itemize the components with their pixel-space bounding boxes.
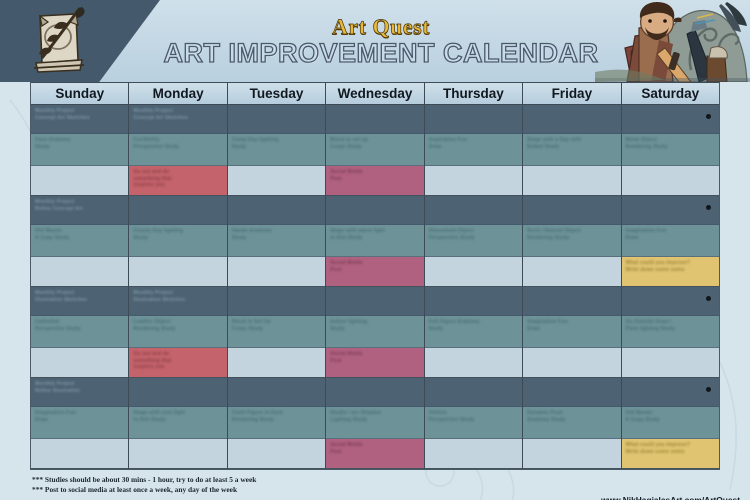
cell-text: Social MediaPost: [330, 260, 419, 273]
calendar-day-column: Household ObjectPerspective Study: [425, 196, 523, 287]
daily-study-cell[interactable]: Block in set upCrops Study: [326, 134, 423, 165]
monthly-goal-cell[interactable]: Monthly ProjectIllustration Sketches: [129, 287, 226, 316]
footer-note-social: *** Post to social media at least once a…: [32, 485, 256, 495]
extra-task-cell[interactable]: [523, 256, 620, 287]
extra-task-cell[interactable]: [523, 438, 620, 469]
cell-text: Full Figure AnatomyStudy: [429, 319, 518, 332]
extra-task-cell[interactable]: [425, 347, 522, 378]
daily-study-cell[interactable]: Studio / arc ShadowLighting Study: [326, 407, 423, 438]
extra-task-cell[interactable]: Go out and dosomething thatinspires you: [129, 165, 226, 196]
calendar-day-column: Inspiration FunDraw: [425, 105, 523, 196]
monthly-goal-cell[interactable]: [326, 287, 423, 316]
cell-text: Go out and dosomething thatinspires you: [133, 351, 222, 371]
monthly-goal-cell[interactable]: Monthly ProjectRefine Illustration: [31, 378, 128, 407]
calendar-grid: Sunday Monday Tuesday Wednesday Thursday…: [30, 82, 720, 470]
monthly-goal-cell[interactable]: [425, 196, 522, 225]
calendar-week-row: Monthly ProjectRefine Concept ArtOld Mas…: [31, 196, 719, 287]
cell-text: Old MasterA Copy Study: [626, 410, 715, 423]
extra-task-cell[interactable]: What could you improve?Write down some n…: [622, 438, 719, 469]
daily-study-cell[interactable]: Stage with a Day withEnded Study: [523, 134, 620, 165]
daily-study-cell[interactable]: CathedralPerspective Study: [31, 316, 128, 347]
daily-study-cell[interactable]: Cloudy Day lightingStudy: [129, 225, 226, 256]
day-header-row: Sunday Monday Tuesday Wednesday Thursday…: [31, 82, 719, 105]
calendar-day-column: Monthly ProjectIllustration SketchesCath…: [31, 287, 129, 378]
extra-task-cell[interactable]: [228, 438, 325, 469]
monthly-goal-cell[interactable]: [228, 105, 325, 134]
cell-text: Stage with cool lightin thin Study: [133, 410, 222, 423]
footer-notes: *** Studies should be about 30 mins - 1 …: [32, 475, 256, 495]
cell-text: Social MediaPost: [330, 351, 419, 364]
week-marker-dot-icon: [706, 296, 711, 301]
daily-study-cell[interactable]: Stage with warm lightin thin Study: [326, 225, 423, 256]
monthly-goal-cell[interactable]: [228, 196, 325, 225]
daily-study-cell[interactable]: Block in Set UpCrops Study: [228, 316, 325, 347]
monthly-goal-cell[interactable]: [129, 196, 226, 225]
daily-study-cell[interactable]: Household ObjectPerspective Study: [425, 225, 522, 256]
cell-text: Social MediaPost: [330, 442, 419, 455]
cell-text: Go out and dosomething thatinspires you: [133, 169, 222, 189]
page-title: ART IMPROVEMENT CALENDAR: [164, 40, 599, 67]
cell-text: Face AnatomyStudy: [35, 137, 124, 150]
cell-text: Monthly ProjectConcept Art Sketches: [35, 108, 124, 121]
daily-study-cell[interactable]: Leather ObjectRendering Study: [129, 316, 226, 347]
day-header-wednesday: Wednesday: [326, 82, 424, 105]
extra-task-cell[interactable]: What could you improve?Write down some n…: [622, 256, 719, 287]
cell-text: VehiclePerspective Study: [429, 410, 518, 423]
website-link[interactable]: www.NikHagialasArt.com/ArtQuest: [601, 495, 740, 500]
monthly-goal-cell[interactable]: [326, 196, 423, 225]
daily-study-cell[interactable]: Imagination FunDraw: [31, 407, 128, 438]
cell-text: Stage with warm lightin thin Study: [330, 228, 419, 241]
calendar-day-column: Monthly ProjectRefine IllustrationImagin…: [31, 378, 129, 469]
cell-text: Hands AnatomyStudy: [232, 228, 321, 241]
daily-study-cell[interactable]: Inspiration FunDraw: [425, 134, 522, 165]
calendar-day-column: Monthly ProjectIllustration SketchesLeat…: [129, 287, 227, 378]
cell-text: Block in set upCrops Study: [330, 137, 419, 150]
calendar-weeks: Monthly ProjectConcept Art SketchesFace …: [31, 105, 719, 469]
daily-study-cell[interactable]: Cloth Figure in DarkRendering Study: [228, 407, 325, 438]
daily-study-cell[interactable]: Old MasterA Copy Study: [622, 407, 719, 438]
cell-text: Monthly ProjectConcept Art Sketches: [133, 108, 222, 121]
daily-study-cell[interactable]: Imagination FunDraw: [622, 225, 719, 256]
day-header-sunday: Sunday: [31, 82, 129, 105]
cell-text: Old MasterA Copy Study: [35, 228, 124, 241]
extra-task-cell[interactable]: Social MediaPost: [326, 347, 423, 378]
calendar-day-column: Monthly ProjectConcept Art SketchesFace …: [31, 105, 129, 196]
daily-study-cell[interactable]: Rock / Natural ObjectRendering Study: [523, 225, 620, 256]
monthly-goal-cell[interactable]: [326, 105, 423, 134]
extra-task-cell[interactable]: [622, 347, 719, 378]
monthly-goal-cell[interactable]: Monthly ProjectRefine Concept Art: [31, 196, 128, 225]
cell-text: Inspiration FunDraw: [429, 137, 518, 150]
monthly-goal-cell[interactable]: [523, 287, 620, 316]
daily-study-cell[interactable]: Face AnatomyStudy: [31, 134, 128, 165]
week-marker-dot-icon: [706, 114, 711, 119]
cell-text: Monthly ProjectRefine Concept Art: [35, 199, 124, 212]
cell-text: Metal ObjectRendering Study: [626, 137, 715, 150]
daily-study-cell[interactable]: Hands AnatomyStudy: [228, 225, 325, 256]
daily-study-cell[interactable]: Imagination FunDraw: [523, 316, 620, 347]
cell-text: Monthly ProjectRefine Illustration: [35, 381, 124, 394]
calendar-day-column: Stage with a Day withEnded Study: [523, 105, 621, 196]
day-header-friday: Friday: [523, 82, 621, 105]
calendar-week-row: Monthly ProjectConcept Art SketchesFace …: [31, 105, 719, 196]
monthly-goal-cell[interactable]: [326, 378, 423, 407]
cell-text: Fur/AbilityPerspective Study: [133, 137, 222, 150]
extra-task-cell[interactable]: Go out and dosomething thatinspires you: [129, 347, 226, 378]
monthly-goal-cell[interactable]: Monthly ProjectConcept Art Sketches: [129, 105, 226, 134]
cell-text: Indoor lightingStudy: [330, 319, 419, 332]
extra-task-cell[interactable]: [228, 165, 325, 196]
monthly-goal-cell[interactable]: Monthly ProjectIllustration Sketches: [31, 287, 128, 316]
daily-study-cell[interactable]: Comp Day lightingStudy: [228, 134, 325, 165]
cell-text: Social MediaPost: [330, 169, 419, 182]
cell-text: CathedralPerspective Study: [35, 319, 124, 332]
cell-text: Imagination FunDraw: [35, 410, 124, 423]
extra-task-cell[interactable]: Social MediaPost: [326, 438, 423, 469]
page-header: Art Quest ART IMPROVEMENT CALENDAR: [0, 0, 750, 82]
daily-study-cell[interactable]: Dynamic PoseAnatomy Study: [523, 407, 620, 438]
monthly-goal-cell[interactable]: [523, 378, 620, 407]
monthly-goal-cell[interactable]: [622, 378, 719, 407]
monthly-goal-cell[interactable]: [425, 287, 522, 316]
monthly-goal-cell[interactable]: [622, 287, 719, 316]
cell-text: What could you improve?Write down some n…: [626, 442, 715, 455]
monthly-goal-cell[interactable]: [622, 196, 719, 225]
cell-text: Stage with a Day withEnded Study: [527, 137, 616, 150]
week-marker-dot-icon: [706, 205, 711, 210]
cell-text: Household ObjectPerspective Study: [429, 228, 518, 241]
daily-study-cell[interactable]: Go Outside Draw /Plein lighting Study: [622, 316, 719, 347]
calendar-day-column: Studio / arc ShadowLighting StudySocial …: [326, 378, 424, 469]
calendar-day-column: Block in set upCrops StudySocial MediaPo…: [326, 105, 424, 196]
extra-task-cell[interactable]: [425, 165, 522, 196]
monthly-goal-cell[interactable]: [228, 378, 325, 407]
monthly-goal-cell[interactable]: Monthly ProjectConcept Art Sketches: [31, 105, 128, 134]
calendar-day-column: Imagination FunDrawWhat could you improv…: [622, 196, 719, 287]
calendar-day-column: Hands AnatomyStudy: [228, 196, 326, 287]
calendar-week-row: Monthly ProjectIllustration SketchesCath…: [31, 287, 719, 378]
cell-text: Cloudy Day lightingStudy: [133, 228, 222, 241]
extra-task-cell[interactable]: [31, 347, 128, 378]
extra-task-cell[interactable]: [31, 256, 128, 287]
calendar-day-column: VehiclePerspective Study: [425, 378, 523, 469]
day-header-tuesday: Tuesday: [228, 82, 326, 105]
extra-task-cell[interactable]: [425, 256, 522, 287]
calendar-day-column: Cloth Figure in DarkRendering Study: [228, 378, 326, 469]
daily-study-cell[interactable]: VehiclePerspective Study: [425, 407, 522, 438]
cell-text: Dynamic PoseAnatomy Study: [527, 410, 616, 423]
monthly-goal-cell[interactable]: [523, 105, 620, 134]
page-footer: *** Studies should be about 30 mins - 1 …: [32, 475, 722, 495]
extra-task-cell[interactable]: [425, 438, 522, 469]
calendar-day-column: Dynamic PoseAnatomy Study: [523, 378, 621, 469]
title-block: Art Quest ART IMPROVEMENT CALENDAR: [160, 0, 602, 82]
monthly-goal-cell[interactable]: [129, 378, 226, 407]
cell-text: Imagination FunDraw: [626, 228, 715, 241]
calendar-day-column: Comp Day lightingStudy: [228, 105, 326, 196]
calendar-day-column: Monthly ProjectConcept Art SketchesFur/A…: [129, 105, 227, 196]
cell-text: Monthly ProjectIllustration Sketches: [35, 290, 124, 303]
calendar-day-column: Full Figure AnatomyStudy: [425, 287, 523, 378]
monthly-goal-cell[interactable]: [228, 287, 325, 316]
monthly-goal-cell[interactable]: [425, 378, 522, 407]
monthly-goal-cell[interactable]: [523, 196, 620, 225]
calendar-day-column: Old MasterA Copy StudyWhat could you imp…: [622, 378, 719, 469]
calendar-day-column: Go Outside Draw /Plein lighting Study: [622, 287, 719, 378]
calendar-day-column: Metal ObjectRendering Study: [622, 105, 719, 196]
calendar-day-column: Stage with cool lightin thin Study: [129, 378, 227, 469]
extra-task-cell[interactable]: [129, 256, 226, 287]
daily-study-cell[interactable]: Full Figure AnatomyStudy: [425, 316, 522, 347]
warrior-character-icon: [595, 0, 750, 82]
monthly-goal-cell[interactable]: [425, 105, 522, 134]
extra-task-cell[interactable]: [523, 347, 620, 378]
extra-task-cell[interactable]: Social MediaPost: [326, 256, 423, 287]
monthly-goal-cell[interactable]: [622, 105, 719, 134]
footer-note-studies: *** Studies should be about 30 mins - 1 …: [32, 475, 256, 485]
extra-task-cell[interactable]: [129, 438, 226, 469]
day-header-thursday: Thursday: [425, 82, 523, 105]
calendar-day-column: Rock / Natural ObjectRendering Study: [523, 196, 621, 287]
cell-text: Rock / Natural ObjectRendering Study: [527, 228, 616, 241]
brand-logo-text: Art Quest: [332, 16, 430, 38]
cell-text: Comp Day lightingStudy: [232, 137, 321, 150]
cell-text: Block in Set UpCrops Study: [232, 319, 321, 332]
daily-study-cell[interactable]: Old MasterA Copy Study: [31, 225, 128, 256]
extra-task-cell[interactable]: [622, 165, 719, 196]
cell-text: Imagination FunDraw: [527, 319, 616, 332]
week-marker-dot-icon: [706, 387, 711, 392]
extra-task-cell[interactable]: [31, 165, 128, 196]
daily-study-cell[interactable]: Indoor lightingStudy: [326, 316, 423, 347]
scroll-quill-icon: [28, 6, 90, 78]
calendar-day-column: Cloudy Day lightingStudy: [129, 196, 227, 287]
extra-task-cell[interactable]: [228, 256, 325, 287]
daily-study-cell[interactable]: Fur/AbilityPerspective Study: [129, 134, 226, 165]
day-header-monday: Monday: [129, 82, 227, 105]
calendar-day-column: Monthly ProjectRefine Concept ArtOld Mas…: [31, 196, 129, 287]
calendar-day-column: Indoor lightingStudySocial MediaPost: [326, 287, 424, 378]
cell-text: Monthly ProjectIllustration Sketches: [133, 290, 222, 303]
cell-text: Go Outside Draw /Plein lighting Study: [626, 319, 715, 332]
extra-task-cell[interactable]: [31, 438, 128, 469]
cell-text: Leather ObjectRendering Study: [133, 319, 222, 332]
daily-study-cell[interactable]: Metal ObjectRendering Study: [622, 134, 719, 165]
calendar-week-row: Monthly ProjectRefine IllustrationImagin…: [31, 378, 719, 469]
daily-study-cell[interactable]: Stage with cool lightin thin Study: [129, 407, 226, 438]
cell-text: Cloth Figure in DarkRendering Study: [232, 410, 321, 423]
calendar-day-column: Stage with warm lightin thin StudySocial…: [326, 196, 424, 287]
calendar-day-column: Imagination FunDraw: [523, 287, 621, 378]
extra-task-cell[interactable]: Social MediaPost: [326, 165, 423, 196]
cell-text: Studio / arc ShadowLighting Study: [330, 410, 419, 423]
calendar-day-column: Block in Set UpCrops Study: [228, 287, 326, 378]
cell-text: What could you improve?Write down some n…: [626, 260, 715, 273]
extra-task-cell[interactable]: [523, 165, 620, 196]
day-header-saturday: Saturday: [622, 82, 719, 105]
extra-task-cell[interactable]: [228, 347, 325, 378]
